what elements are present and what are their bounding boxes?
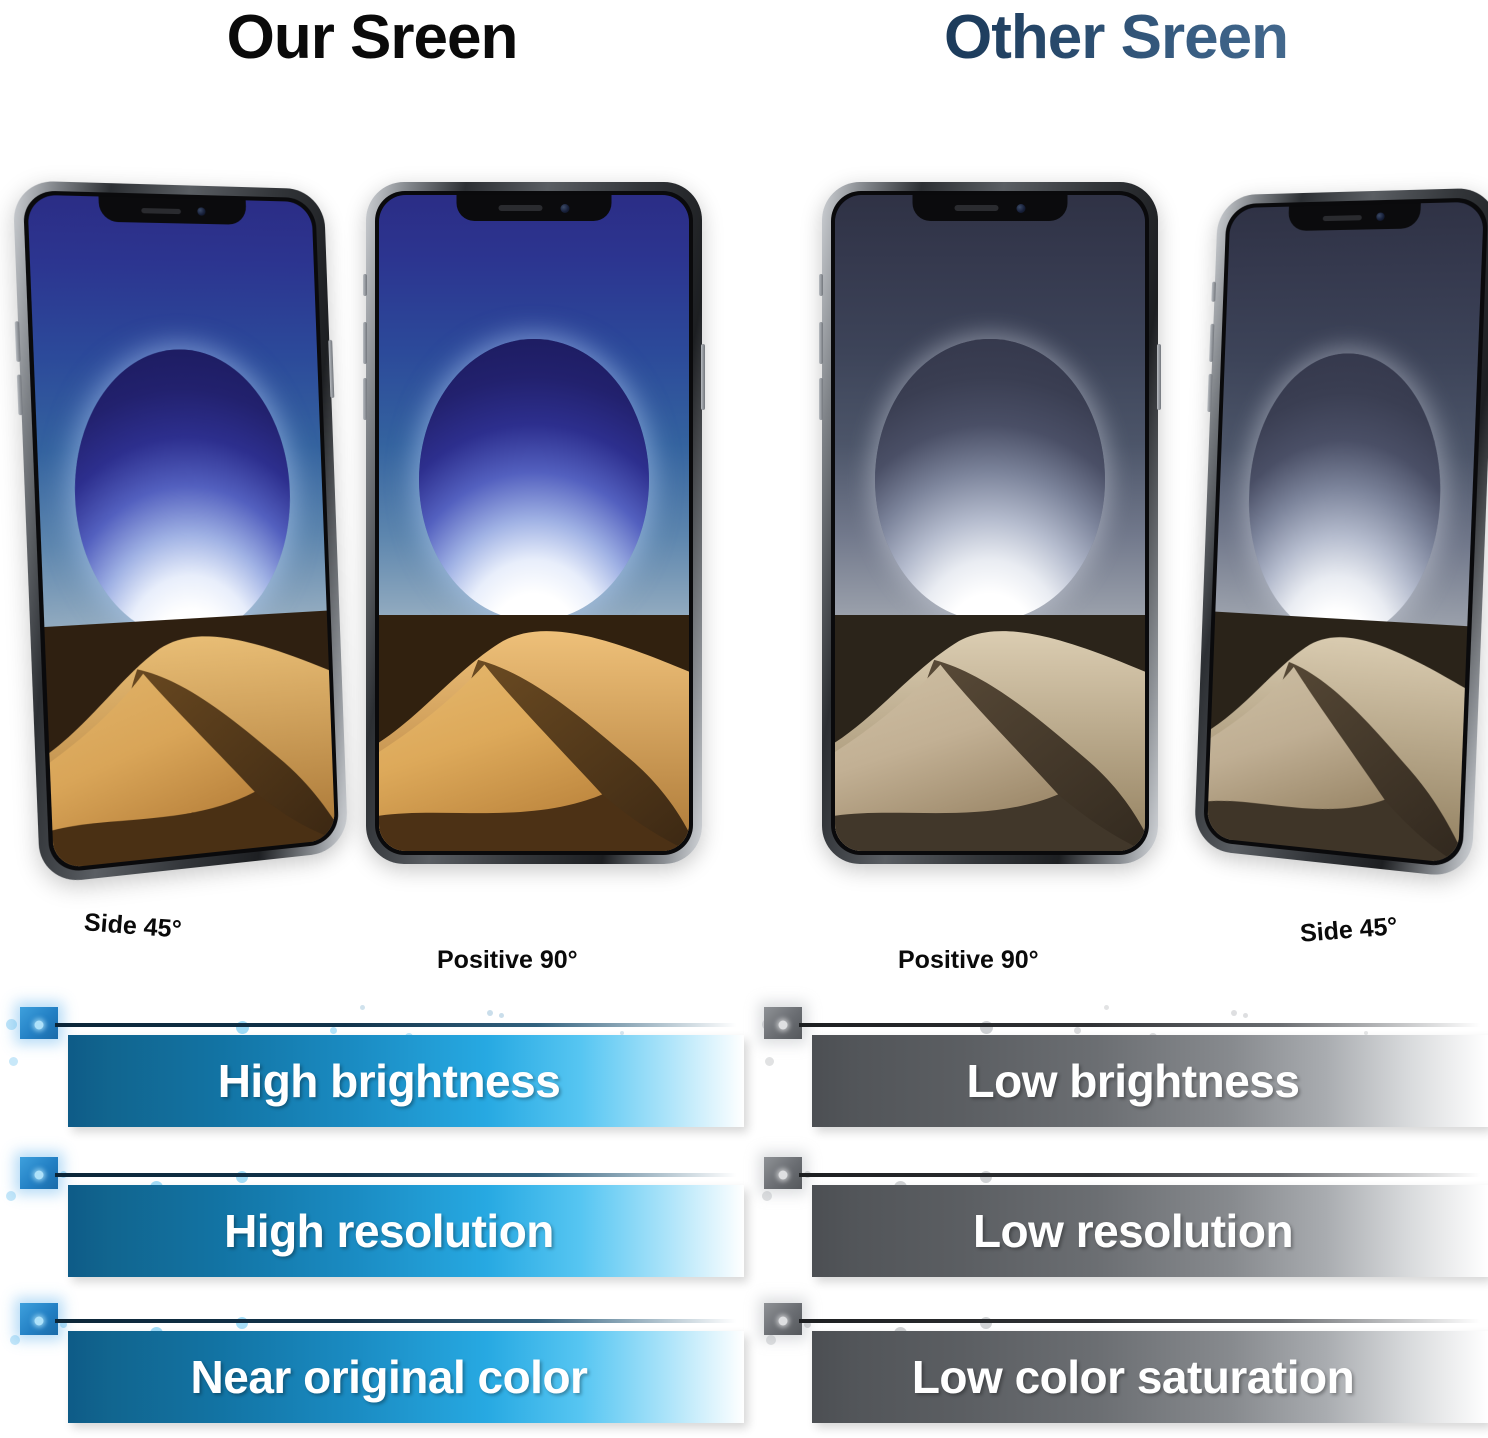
front-camera-icon	[560, 204, 569, 213]
feature-label: Low color saturation	[812, 1350, 1488, 1404]
earpiece-speaker-icon	[1323, 215, 1362, 221]
front-camera-icon	[197, 207, 206, 215]
feature-bar-other-1: Low resolution	[812, 1185, 1488, 1277]
wallpaper-dunes	[1207, 612, 1467, 864]
phone-bezel	[1203, 197, 1488, 868]
headers-row: Our Sreen Other Sreen	[0, 0, 1488, 90]
phone-volume-button[interactable]	[1207, 374, 1212, 412]
phone-volume-button[interactable]	[363, 322, 367, 364]
wallpaper-dunes	[44, 611, 335, 869]
page-title-other: Other Sreen	[744, 2, 1488, 73]
phone-bezel	[23, 190, 340, 874]
phone-mockup-other-side	[1194, 187, 1488, 878]
feature-connector-line	[799, 1173, 1487, 1177]
page-title-ours: Our Sreen	[0, 2, 744, 73]
feature-bar-ours-1: High resolution	[68, 1185, 744, 1277]
wallpaper-moon	[875, 339, 1104, 621]
feature-marker-badge	[20, 1157, 58, 1189]
feature-connector-line	[55, 1023, 743, 1027]
feature-bar-other-0: Low brightness	[812, 1035, 1488, 1127]
front-camera-icon	[1016, 204, 1025, 213]
wallpaper-dunes	[835, 615, 1145, 851]
feature-label: Low brightness	[812, 1054, 1488, 1108]
angle-label-ours-front: Positive 90°	[437, 946, 578, 975]
feature-bar-other-2: Low color saturation	[812, 1331, 1488, 1423]
phone-volume-button[interactable]	[819, 378, 823, 420]
phone-notch	[457, 195, 612, 221]
feature-connector-line	[55, 1173, 743, 1177]
phone-comparison-stage	[0, 170, 1488, 890]
earpiece-speaker-icon	[142, 208, 182, 214]
phone-screen-ours-side	[27, 195, 335, 869]
feature-row: Low brightness	[744, 995, 1488, 1142]
dune-shapes	[379, 615, 689, 851]
phone-mockup-ours-side	[12, 180, 348, 884]
badge-dot-icon	[35, 1316, 44, 1325]
angle-label-ours-side: Side 45°	[83, 908, 183, 945]
feature-row: Low resolution	[744, 1145, 1488, 1292]
phone-volume-button[interactable]	[363, 378, 367, 420]
feature-bar-ours-0: High brightness	[68, 1035, 744, 1127]
phone-volume-button[interactable]	[17, 375, 23, 416]
badge-dot-icon	[779, 1170, 788, 1179]
wallpaper-dunes	[379, 615, 689, 851]
phone-mute-switch[interactable]	[819, 274, 823, 296]
phone-mockup-ours-front	[366, 182, 702, 864]
feature-column-other: Low brightness Low resolution Low color …	[744, 995, 1488, 1436]
phone-mute-switch[interactable]	[1211, 282, 1216, 302]
phone-mute-switch[interactable]	[363, 274, 367, 296]
phone-power-button[interactable]	[1157, 344, 1161, 410]
feature-label: High brightness	[68, 1054, 744, 1108]
feature-marker-badge	[764, 1007, 802, 1039]
phone-bezel	[831, 191, 1149, 855]
phone-volume-button[interactable]	[1209, 324, 1214, 362]
badge-dot-icon	[35, 1170, 44, 1179]
phone-mockup-other-front	[822, 182, 1158, 864]
phone-power-button[interactable]	[701, 344, 705, 410]
phone-screen-ours-front	[379, 195, 689, 851]
feature-label: Near original color	[68, 1350, 744, 1404]
dune-shapes	[1207, 612, 1467, 864]
feature-marker-badge	[764, 1157, 802, 1189]
feature-connector-line	[799, 1319, 1487, 1323]
phone-notch	[1288, 203, 1421, 231]
badge-dot-icon	[779, 1316, 788, 1325]
wallpaper-moon	[419, 339, 648, 621]
phone-power-button[interactable]	[328, 340, 334, 398]
feature-label: Low resolution	[812, 1204, 1488, 1258]
feature-row: High brightness	[0, 995, 744, 1142]
feature-connector-line	[55, 1319, 743, 1323]
phone-notch	[913, 195, 1068, 221]
phone-bezel	[375, 191, 693, 855]
phone-volume-button[interactable]	[819, 322, 823, 364]
feature-marker-badge	[20, 1303, 58, 1335]
feature-marker-badge	[764, 1303, 802, 1335]
badge-dot-icon	[779, 1020, 788, 1029]
dune-shapes	[44, 611, 335, 869]
feature-bar-ours-2: Near original color	[68, 1331, 744, 1423]
phone-volume-button[interactable]	[15, 321, 21, 362]
feature-row: Low color saturation	[744, 1291, 1488, 1438]
feature-column-ours: High brightness High resolution Near ori…	[0, 995, 744, 1436]
dune-shapes	[835, 615, 1145, 851]
angle-label-other-front: Positive 90°	[898, 946, 1039, 975]
phone-notch	[98, 196, 247, 224]
feature-marker-badge	[20, 1007, 58, 1039]
feature-connector-line	[799, 1023, 1487, 1027]
phone-screen-other-side	[1207, 202, 1484, 864]
badge-dot-icon	[35, 1020, 44, 1029]
phone-screen-other-front	[835, 195, 1145, 851]
angle-label-other-side: Side 45°	[1299, 912, 1399, 949]
feature-comparison: High brightness High resolution Near ori…	[0, 995, 1488, 1436]
feature-row: High resolution	[0, 1145, 744, 1292]
earpiece-speaker-icon	[499, 205, 543, 211]
feature-row: Near original color	[0, 1291, 744, 1438]
feature-label: High resolution	[68, 1204, 744, 1258]
earpiece-speaker-icon	[955, 205, 999, 211]
front-camera-icon	[1376, 212, 1385, 220]
